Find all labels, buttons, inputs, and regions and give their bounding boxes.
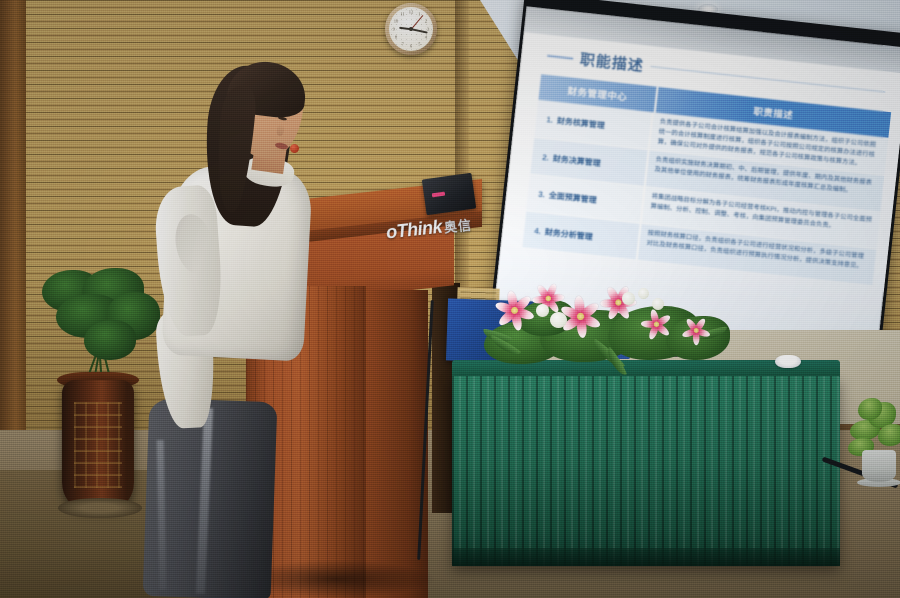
presenter: [0, 0, 900, 598]
presentation-photo-scene: 12 1 2 3 4 5 6 7 8 9 10 11 职能描述: [0, 0, 900, 598]
